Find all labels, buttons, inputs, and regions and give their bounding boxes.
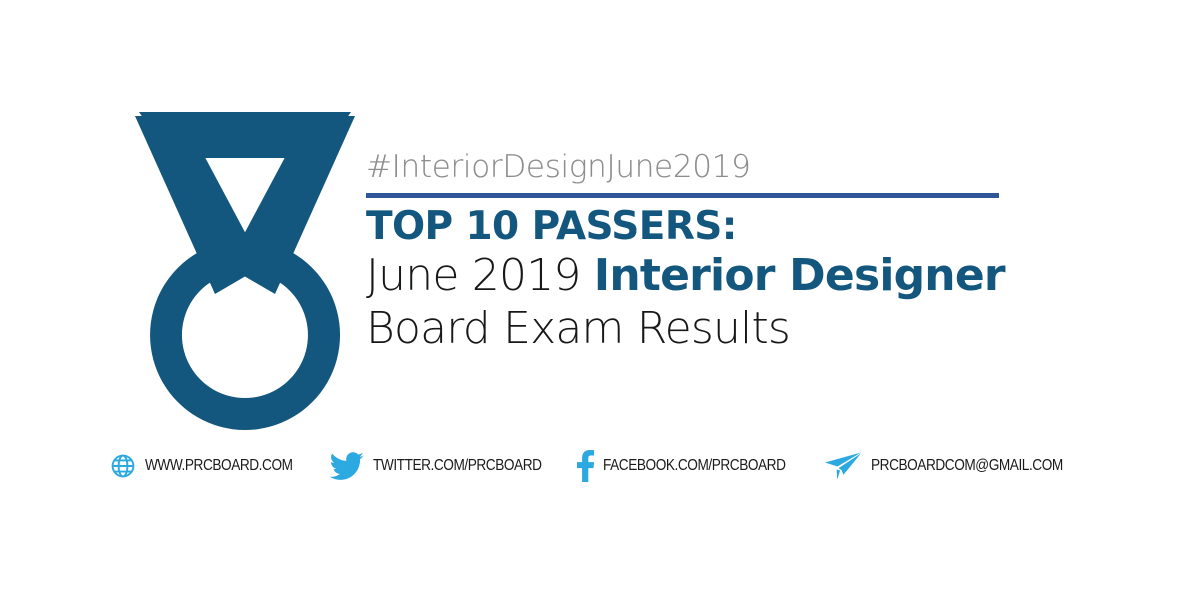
footer-item-facebook[interactable]: FACEBOOK.COM/PRCBOARD xyxy=(576,446,810,486)
footer-label-facebook: FACEBOOK.COM/PRCBOARD xyxy=(603,457,786,475)
page-title: TOP 10 PASSERS: xyxy=(366,205,1046,249)
footer-label-website: WWW.PRCBOARD.COM xyxy=(145,457,293,475)
hashtag: #InteriorDesignJune2019 xyxy=(366,152,1046,183)
facebook-f-icon xyxy=(576,450,594,482)
footer-contact-strip: WWW.PRCBOARD.COM TWITTER.COM/PRCBOARD FA… xyxy=(110,446,1089,486)
paper-plane-icon xyxy=(824,451,862,481)
footer-label-email: PRCBOARDCOM@GMAIL.COM xyxy=(871,457,1063,475)
subtitle-exam-name: Interior Designer xyxy=(594,250,1005,301)
headline-block: #InteriorDesignJune2019 TOP 10 PASSERS: … xyxy=(366,152,1046,356)
banner-root: #InteriorDesignJune2019 TOP 10 PASSERS: … xyxy=(0,0,1200,600)
medal-icon xyxy=(105,90,385,430)
subtitle-line-1: June 2019 Interior Designer xyxy=(366,249,1046,303)
footer-label-twitter: TWITTER.COM/PRCBOARD xyxy=(373,457,542,475)
subtitle-line-2: Board Exam Results xyxy=(366,302,1046,356)
divider-rule xyxy=(366,193,999,198)
subtitle-exam-date: June 2019 xyxy=(366,250,581,301)
footer-item-email[interactable]: PRCBOARDCOM@GMAIL.COM xyxy=(824,446,1089,486)
twitter-bird-icon xyxy=(330,451,364,481)
footer-item-twitter[interactable]: TWITTER.COM/PRCBOARD xyxy=(330,446,565,486)
footer-item-website[interactable]: WWW.PRCBOARD.COM xyxy=(110,446,313,486)
globe-icon xyxy=(110,453,136,479)
